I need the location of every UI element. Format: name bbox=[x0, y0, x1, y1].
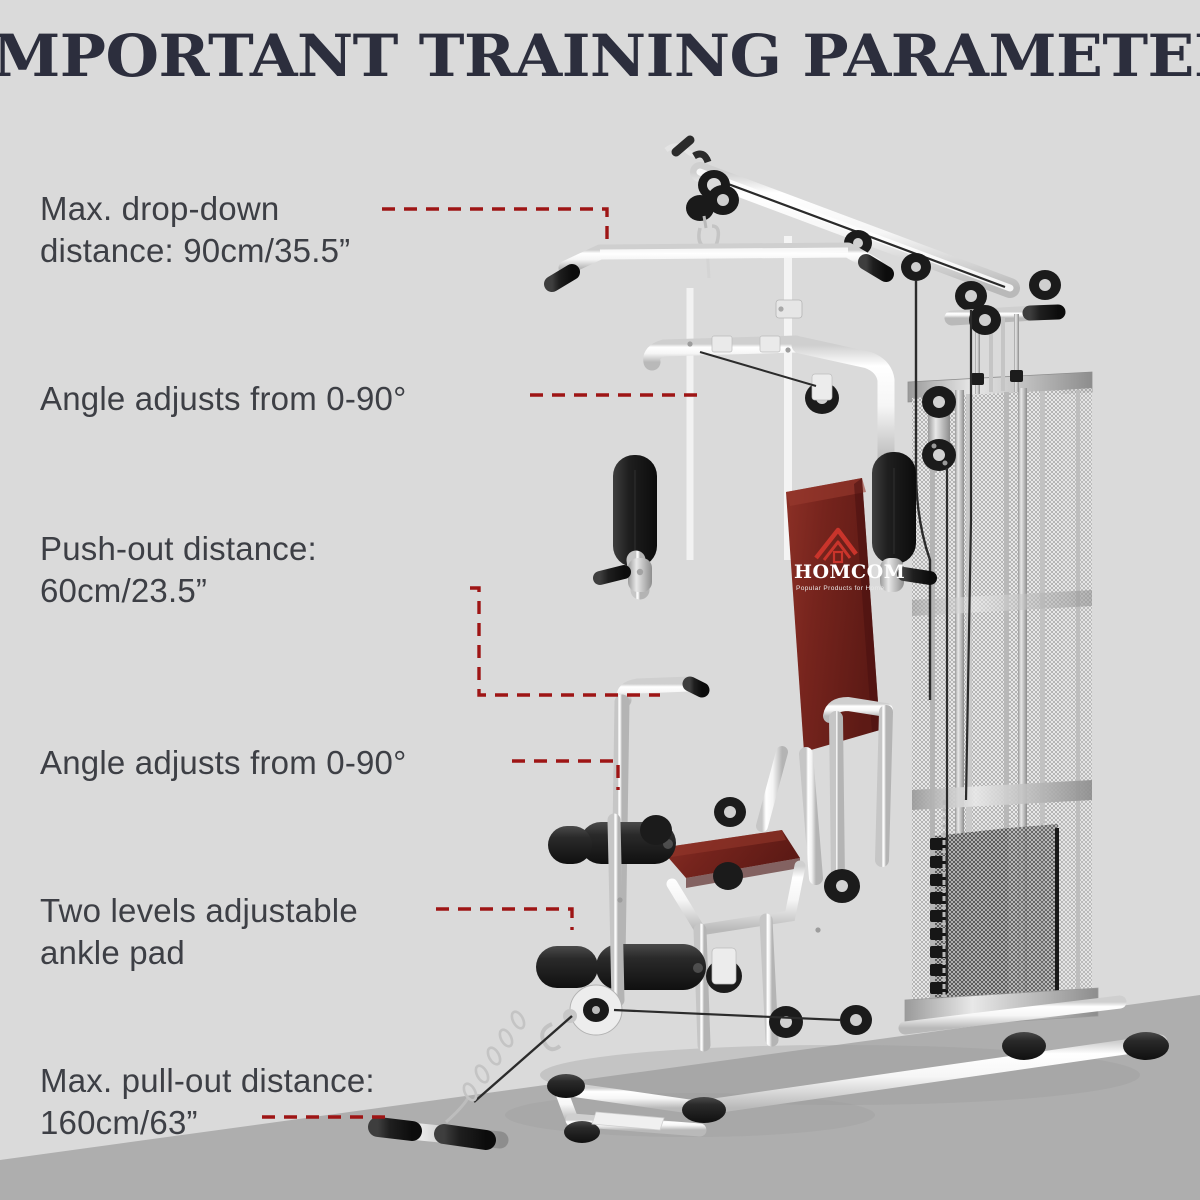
callout-ankle-pad: Two levels adjustable ankle pad bbox=[40, 890, 358, 974]
callout-max-pull-out: Max. pull-out distance: 160cm/63” bbox=[40, 1060, 375, 1144]
callout-angle-lower: Angle adjusts from 0-90° bbox=[40, 742, 407, 784]
infographic-canvas: IMPORTANT TRAINING PARAMETERS bbox=[0, 0, 1200, 1200]
callout-max-drop-down: Max. drop-down distance: 90cm/35.5” bbox=[40, 188, 350, 272]
page-title: IMPORTANT TRAINING PARAMETERS bbox=[0, 22, 1200, 90]
callout-push-out: Push-out distance: 60cm/23.5” bbox=[40, 528, 317, 612]
callout-angle-upper: Angle adjusts from 0-90° bbox=[40, 378, 407, 420]
